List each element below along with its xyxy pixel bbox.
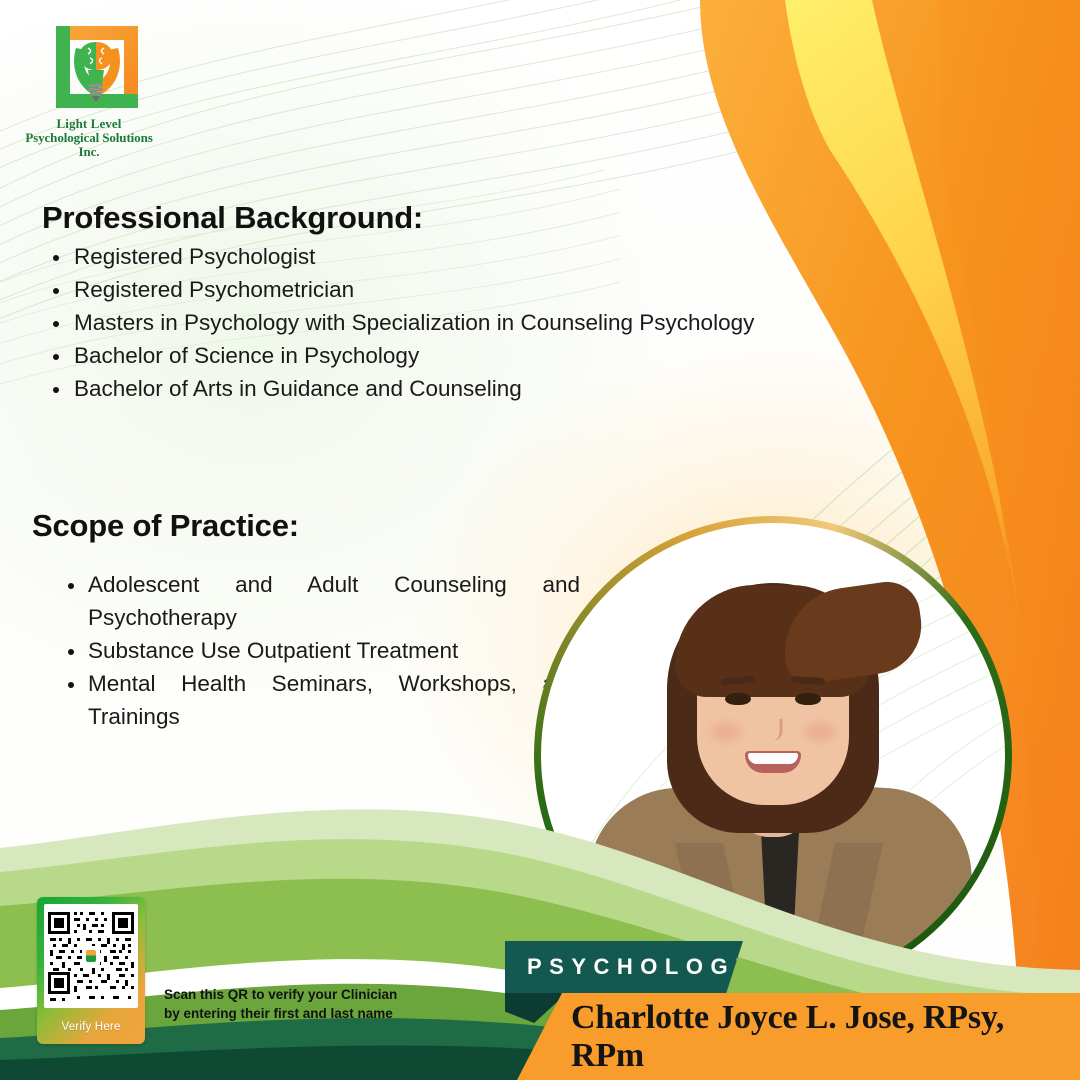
poster-canvas: Light Level Psychological Solutions Inc.… xyxy=(0,0,1080,1080)
list-item: Adolescent and Adult Counseling and Psyc… xyxy=(88,568,580,634)
brand-logo: Light Level Psychological Solutions Inc. xyxy=(14,12,164,159)
scope-of-practice-heading: Scope of Practice: xyxy=(32,508,299,544)
qr-verification-card[interactable]: Verify Here xyxy=(37,897,145,1044)
brand-logo-line1: Light Level xyxy=(14,117,164,131)
brand-logo-text: Light Level Psychological Solutions Inc. xyxy=(14,117,164,159)
clinician-name: Charlotte Joyce L. Jose, RPsy, RPm xyxy=(571,999,1080,1075)
qr-instruction-line1: Scan this QR to verify your Clinician xyxy=(164,985,444,1004)
scope-of-practice-list: Adolescent and Adult Counseling and Psyc… xyxy=(62,568,580,733)
list-item: Bachelor of Arts in Guidance and Counsel… xyxy=(74,372,830,405)
list-item: Masters in Psychology with Specializatio… xyxy=(74,306,830,339)
qr-code-icon[interactable] xyxy=(44,904,138,1008)
professional-background-heading: Professional Background: xyxy=(42,200,423,236)
list-item: Bachelor of Science in Psychology xyxy=(74,339,830,372)
lightbulb-brain-hands-icon xyxy=(32,12,150,116)
list-item: Registered Psychologist xyxy=(74,240,830,273)
qr-instruction-text: Scan this QR to verify your Clinician by… xyxy=(164,985,444,1023)
list-item: Substance Use Outpatient Treatment xyxy=(88,634,580,667)
brand-logo-line2: Psychological Solutions Inc. xyxy=(14,131,164,159)
name-banner: Charlotte Joyce L. Jose, RPsy, RPm xyxy=(517,993,1080,1080)
qr-instruction-line2: by entering their first and last name xyxy=(164,1004,444,1023)
role-ribbon: PSYCHOLOGIST xyxy=(505,941,743,993)
qr-verify-label: Verify Here xyxy=(44,1021,138,1033)
professional-background-list: Registered Psychologist Registered Psych… xyxy=(44,240,830,405)
qr-embedded-logo-icon xyxy=(82,946,100,966)
list-item: Registered Psychometrician xyxy=(74,273,830,306)
